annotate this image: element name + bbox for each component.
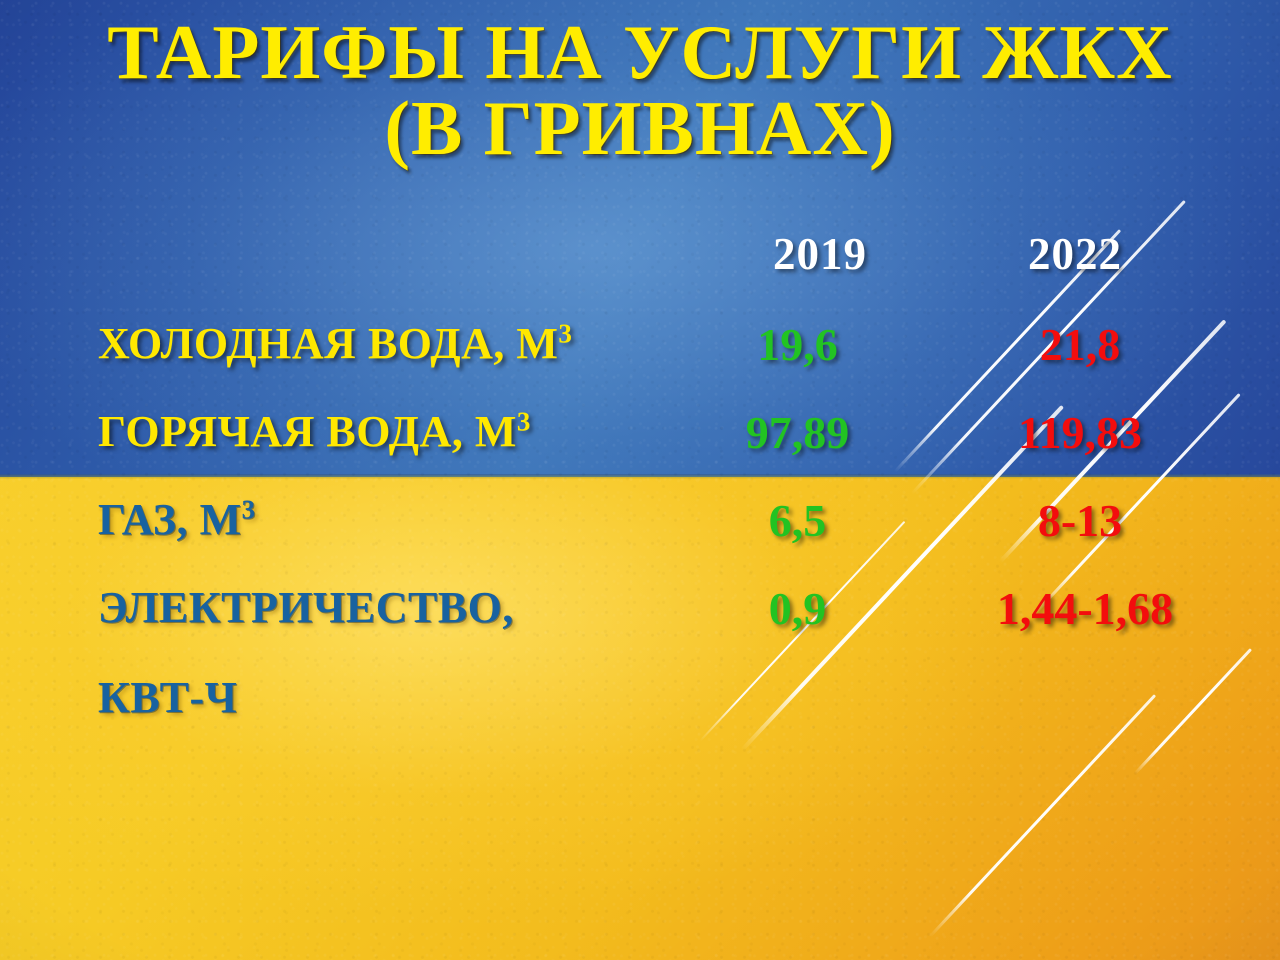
- row-label-text: ГАЗ, М: [98, 495, 242, 544]
- column-header-2022: 2022: [1000, 228, 1150, 280]
- cubic-meter-superscript: 3: [558, 318, 572, 348]
- cubic-meter-superscript: 3: [242, 494, 256, 524]
- value-2022: 119,83: [955, 406, 1205, 459]
- column-header-2019: 2019: [745, 228, 895, 280]
- row-label: ГОРЯЧАЯ ВОДА, М3: [98, 406, 531, 457]
- cubic-meter-superscript: 3: [517, 406, 531, 436]
- table-row: ХОЛОДНАЯ ВОДА, М3 19,6 21,8: [0, 318, 1280, 380]
- row-label: ХОЛОДНАЯ ВОДА, М3: [98, 318, 572, 369]
- table-row: ГОРЯЧАЯ ВОДА, М3 97,89 119,83: [0, 406, 1280, 468]
- title-line-2: (В ГРИВНАХ): [0, 90, 1280, 166]
- title-line-1: ТАРИФЫ НА УСЛУГИ ЖКХ: [107, 9, 1173, 95]
- row-label: ГАЗ, М3: [98, 494, 256, 545]
- value-2019: 6,5: [700, 494, 895, 547]
- row-label-text: ЭЛЕКТРИЧЕСТВО,: [98, 583, 514, 632]
- table-row: ГАЗ, М3 6,5 8-13: [0, 494, 1280, 556]
- row-label-text: ХОЛОДНАЯ ВОДА, М: [98, 319, 558, 368]
- table-row: КВТ-Ч: [0, 672, 1280, 734]
- table-row: ЭЛЕКТРИЧЕСТВО, 0,9 1,44-1,68: [0, 582, 1280, 644]
- page-title: ТАРИФЫ НА УСЛУГИ ЖКХ (В ГРИВНАХ): [0, 14, 1280, 166]
- value-2022: 21,8: [955, 318, 1205, 371]
- row-label-text: ГОРЯЧАЯ ВОДА, М: [98, 407, 517, 456]
- row-label-continuation: КВТ-Ч: [98, 672, 237, 723]
- value-2019: 0,9: [700, 582, 895, 635]
- row-label: ЭЛЕКТРИЧЕСТВО,: [98, 582, 514, 633]
- value-2019: 97,89: [700, 406, 895, 459]
- value-2022: 8-13: [955, 494, 1205, 547]
- slide-content: ТАРИФЫ НА УСЛУГИ ЖКХ (В ГРИВНАХ) 2019 20…: [0, 0, 1280, 960]
- slide-canvas: ТАРИФЫ НА УСЛУГИ ЖКХ (В ГРИВНАХ) 2019 20…: [0, 0, 1280, 960]
- value-2019: 19,6: [700, 318, 895, 371]
- value-2022: 1,44-1,68: [930, 582, 1240, 635]
